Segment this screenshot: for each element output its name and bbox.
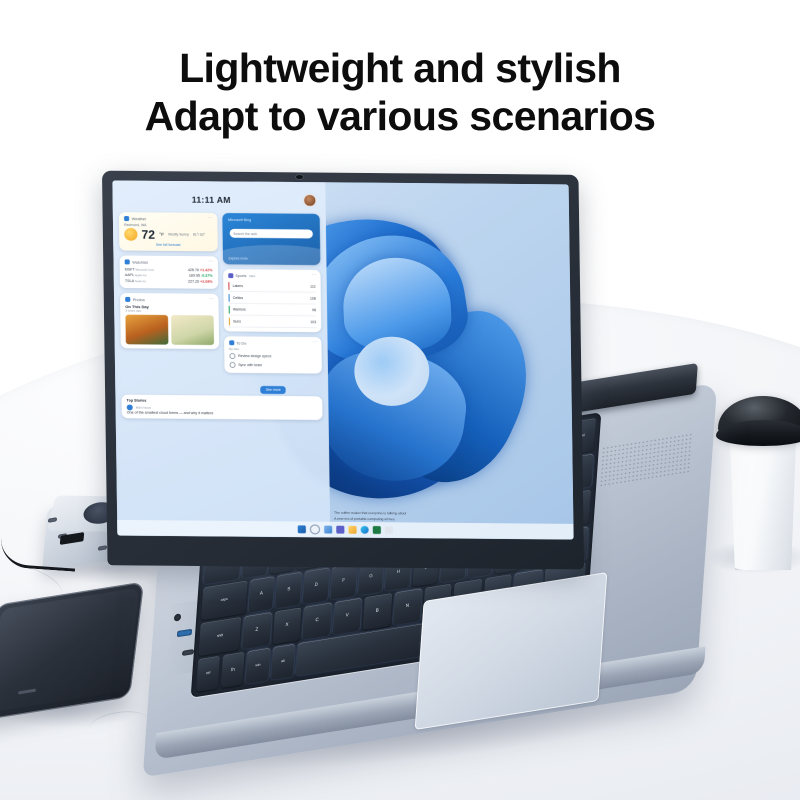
file-explorer-icon[interactable] [348,526,356,534]
key-N[interactable]: N [393,588,422,625]
todo-text: Review design specs [238,354,271,358]
key-caps[interactable]: caps [201,580,247,620]
laptop-screen[interactable]: 11:11 AM ··· Weather Redmo [112,180,573,539]
team-name: Suns [233,319,307,324]
team-score: 98 [312,308,316,312]
weather-forecast-link[interactable]: See full forecast [124,243,212,248]
todo-text: Sync with team [238,363,262,367]
search-wave-decor [222,244,321,265]
weather-more-icon[interactable]: ··· [208,216,213,220]
key-Z[interactable]: Z [242,612,271,649]
key-A[interactable]: A [248,576,275,613]
sports-header: Sports NBA [228,273,316,279]
search-input[interactable]: Search the web [229,229,313,239]
todo-header: To Do [229,340,317,346]
stock-price: 227.20 [188,280,199,284]
stock-change: +2.08% [200,280,213,284]
key-V[interactable]: V [332,598,361,635]
widgets-clock: 11:11 AM [192,195,231,205]
windows-start-icon[interactable] [298,525,306,533]
stock-symbol: MSFT [125,267,135,271]
team-name: Lakers [233,284,308,289]
widgets-panel[interactable]: 11:11 AM ··· Weather Redmo [112,180,330,537]
photos-header: Photos [125,297,213,303]
todo-more-icon[interactable]: ··· [312,340,317,344]
teams-icon[interactable] [336,526,344,534]
photos-icon [125,297,130,302]
bing-search-widget[interactable]: Microsoft Bing Search the web Explore mo… [222,213,321,265]
key-B[interactable]: B [362,593,391,630]
stock-company: Apple Inc [134,273,147,277]
photo-thumbnail[interactable] [125,315,168,345]
key-win[interactable]: win [246,648,270,684]
photos-more-icon[interactable]: ··· [209,297,214,301]
search-footer-link[interactable]: Explore more [229,256,248,260]
photos-widget[interactable]: ··· Photos On This Day 3 years ago [120,293,219,349]
todo-icon [229,340,234,345]
sports-icon [228,273,233,278]
key-X[interactable]: X [272,607,301,644]
key-D[interactable]: D [303,567,330,604]
team-score: 112 [310,284,316,288]
photos-subtitle: 3 years ago [125,309,213,314]
news-header: Top Stories [127,399,318,405]
key-ctrl[interactable]: ctrl [196,656,220,692]
product-banner: Lightweight and stylish Adapt to various… [0,0,800,800]
headline-line-1: Lightweight and stylish [179,45,621,91]
stock-company: Microsoft Corp [135,268,154,272]
sports-row[interactable]: Lakers112 [228,280,316,293]
store-icon[interactable] [385,526,393,534]
excel-icon[interactable] [373,526,381,534]
weather-temperature: 72 [141,229,155,241]
sports-row[interactable]: Celtics108 [228,292,316,305]
key-shift[interactable]: shift [198,617,241,656]
stocks-icon [125,260,130,265]
sun-icon [124,228,137,241]
stocks-more-icon[interactable]: ··· [208,259,213,263]
search-widget-header: Microsoft Bing [228,218,251,222]
todo-widget[interactable]: ··· To Do My Day Review design specsSync… [224,336,322,373]
weather-header: Weather [124,216,212,222]
team-color-bar [228,282,230,290]
news-widget[interactable]: Top Stories MSN News One of the smallest… [121,395,322,420]
sports-league: NBA [249,274,255,278]
team-color-bar [228,317,230,325]
team-score: 108 [310,296,316,300]
stock-symbol: AAPL [125,273,134,277]
webcam-icon [296,175,303,179]
stocks-widget[interactable]: ··· Watchlist MSFT Microsoft Corp425.70 … [120,256,218,289]
checkbox-icon[interactable] [229,361,235,367]
sports-more-icon[interactable]: ··· [311,273,316,277]
news-headline[interactable]: One of the smallest cloud forms — and wh… [127,410,318,416]
stock-change: +1.42% [200,268,213,272]
todo-item[interactable]: Sync with team [229,360,317,370]
stock-row[interactable]: TSLA Tesla Inc227.20 +2.08% [125,278,213,285]
sports-row[interactable]: Warriors98 [228,304,316,317]
search-icon[interactable] [310,524,320,534]
team-color-bar [228,305,230,313]
weather-widget[interactable]: ··· Weather Redmond, WA 72 °F [119,212,217,251]
stock-symbol: TSLA [125,279,134,283]
team-score: 103 [310,320,316,324]
edge-icon[interactable] [361,526,369,534]
sports-row[interactable]: Suns103 [228,316,316,329]
team-name: Warriors [233,307,309,312]
weather-high-low: 81°/ 62° [193,232,205,237]
checkbox-icon[interactable] [229,353,235,359]
key-S[interactable]: S [275,571,302,608]
page-title: Lightweight and stylish Adapt to various… [0,44,800,141]
key-F[interactable]: F [330,563,357,600]
news-source: MSN News [136,406,151,410]
stock-price: 189.95 [189,274,200,278]
weather-degree-unit: °F [159,232,164,238]
headline-line-2: Adapt to various scenarios [0,92,800,140]
photo-thumbnail[interactable] [171,315,214,345]
sports-widget[interactable]: ··· Sports NBA Lakers112Celtics108Warrio… [223,269,322,332]
stock-change: -0.37% [201,274,213,278]
key-fn[interactable]: fn [221,652,245,688]
photos-see-more-button[interactable]: See more [261,386,286,394]
weather-icon [124,216,129,221]
stocks-header: Watchlist [125,260,213,266]
widgets-icon[interactable] [324,526,332,534]
team-color-bar [228,293,230,301]
key-C[interactable]: C [302,602,331,639]
stock-price: 425.70 [188,268,199,272]
avatar[interactable] [303,194,316,207]
stock-company: Tesla Inc [134,279,146,283]
key-alt[interactable]: alt [271,644,295,680]
team-name: Celtics [233,295,307,300]
weather-condition: Mostly Sunny [168,232,189,237]
